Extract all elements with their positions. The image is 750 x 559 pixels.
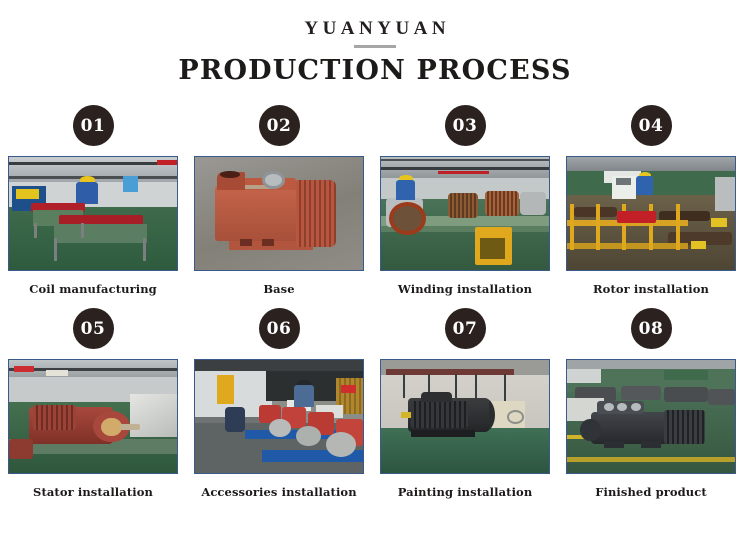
process-row-bottom: 05 Stator installation 06 [0, 300, 750, 503]
photo-scene [9, 360, 177, 473]
step-caption: Winding installation [398, 282, 532, 296]
step-number-badge: 02 [259, 105, 300, 146]
photo-scene [381, 157, 549, 270]
step-number-badge: 08 [631, 308, 672, 349]
step-number-badge: 06 [259, 308, 300, 349]
process-grid: 01 Coil manufacturing 02 [0, 97, 750, 503]
step-caption: Coil manufacturing [29, 282, 157, 296]
step-photo-rotor-installation[interactable] [566, 156, 736, 271]
step-photo-finished-product[interactable] [566, 359, 736, 474]
process-step-08[interactable]: 08 Finished product [558, 300, 744, 503]
step-caption: Accessories installation [201, 485, 356, 499]
page-header: YUANYUAN PRODUCTION PROCESS [0, 0, 750, 87]
photo-scene [195, 157, 363, 270]
process-row-top: 01 Coil manufacturing 02 [0, 97, 750, 300]
photo-scene [567, 157, 735, 270]
process-step-05[interactable]: 05 Stator installation [0, 300, 186, 503]
step-photo-accessories-installation[interactable] [194, 359, 364, 474]
step-photo-winding-installation[interactable] [380, 156, 550, 271]
step-number-badge: 03 [445, 105, 486, 146]
photo-scene [381, 360, 549, 473]
step-photo-stator-installation[interactable] [8, 359, 178, 474]
step-caption: Painting installation [398, 485, 533, 499]
photo-scene [195, 360, 363, 473]
step-number-badge: 04 [631, 105, 672, 146]
step-photo-base[interactable] [194, 156, 364, 271]
process-step-01[interactable]: 01 Coil manufacturing [0, 97, 186, 300]
step-caption: Stator installation [33, 485, 153, 499]
step-caption: Rotor installation [593, 282, 709, 296]
process-step-03[interactable]: 03 Winding installation [372, 97, 558, 300]
step-photo-coil-manufacturing[interactable] [8, 156, 178, 271]
brand-title: YUANYUAN [0, 18, 750, 40]
step-number-badge: 05 [73, 308, 114, 349]
photo-scene [9, 157, 177, 270]
photo-scene [567, 360, 735, 473]
step-photo-painting-installation[interactable] [380, 359, 550, 474]
process-step-02[interactable]: 02 Base [186, 97, 372, 300]
step-number-badge: 01 [73, 105, 114, 146]
page-title: PRODUCTION PROCESS [0, 55, 750, 87]
title-divider [354, 45, 396, 48]
process-step-06[interactable]: 06 Accessories installation [186, 300, 372, 503]
step-caption: Base [263, 282, 294, 296]
process-step-04[interactable]: 04 Rotor installation [558, 97, 744, 300]
step-caption: Finished product [595, 485, 707, 499]
process-step-07[interactable]: 07 Painting installation [372, 300, 558, 503]
step-number-badge: 07 [445, 308, 486, 349]
